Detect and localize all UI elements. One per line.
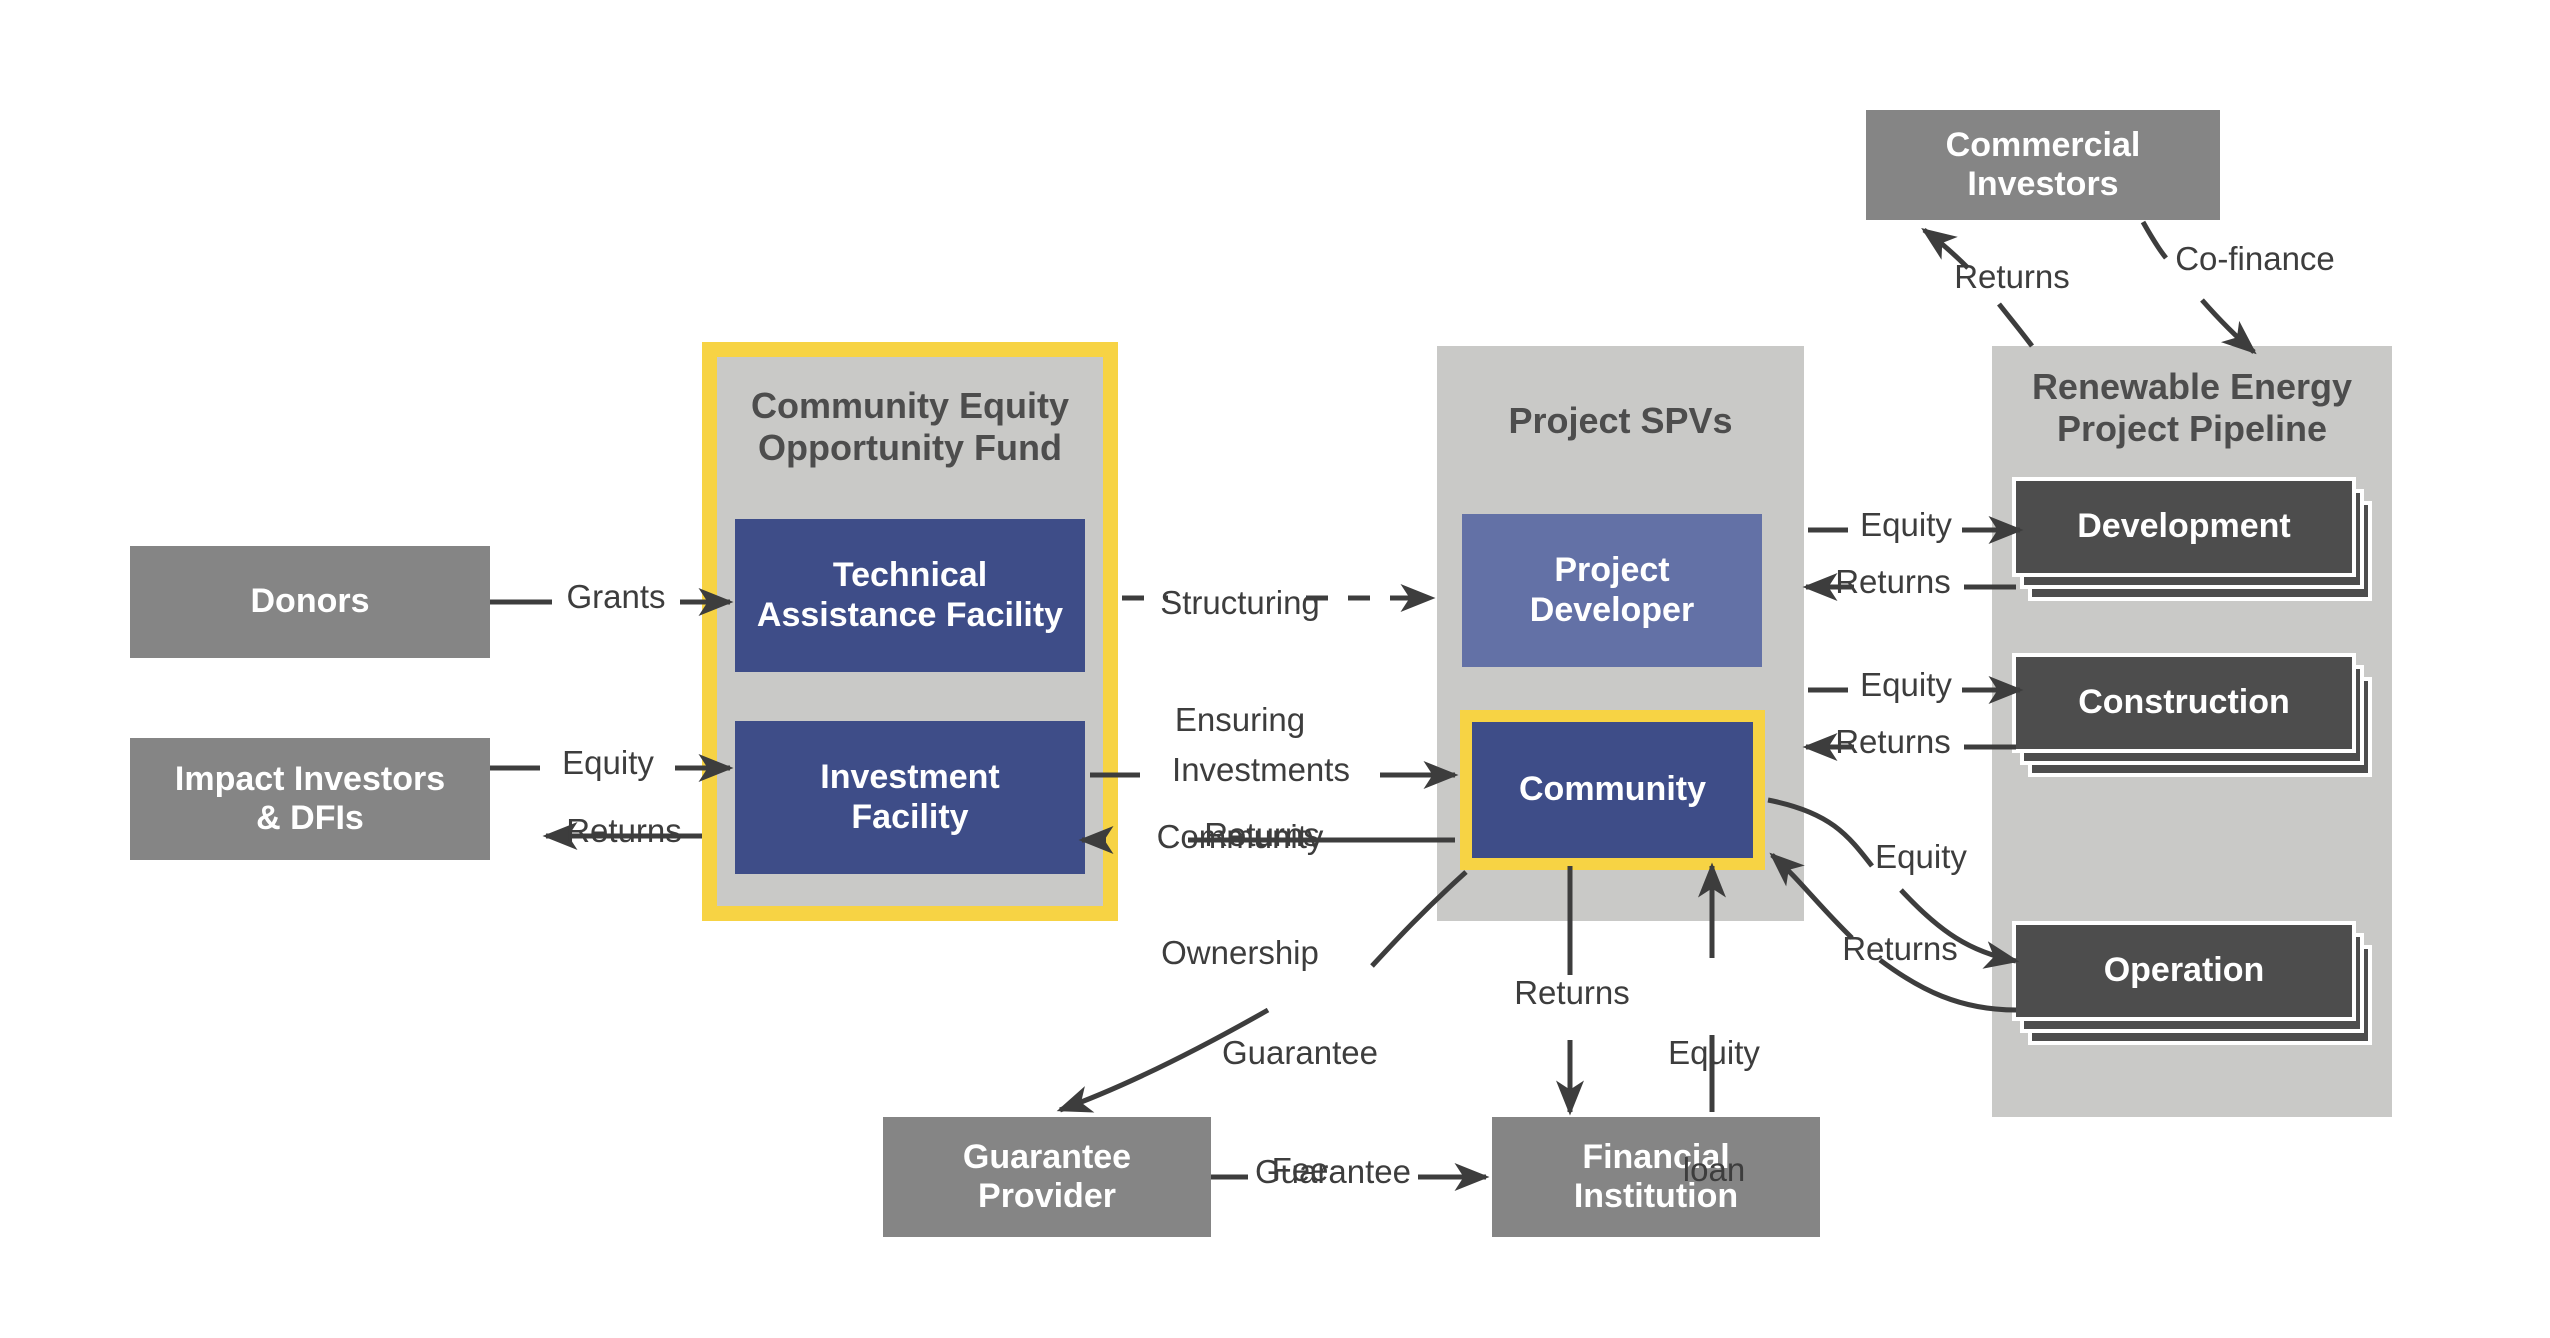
edge-label-guarantee-fee: Guarantee Fee: [1190, 956, 1410, 1268]
edge-co-finance-2: [2202, 300, 2254, 352]
edge-label-returns-impact: Returns: [546, 812, 702, 851]
edge-label-investments: Investments: [1140, 751, 1382, 790]
edge-label-equity-operation: Equity: [1856, 838, 1986, 877]
edge-label-returns-operation: Returns: [1822, 930, 1978, 969]
equity-loan-line1: Equity: [1636, 1034, 1792, 1073]
edge-guarantee-fee: [1372, 872, 1466, 966]
edge-label-returns-invest: Returns: [1184, 816, 1340, 855]
edge-returns-commercial: [1999, 304, 2032, 346]
edge-returns-operation-2: [1772, 855, 1852, 938]
diagram-canvas: Community Equity Opportunity Fund Projec…: [0, 0, 2550, 1338]
edge-label-equity-development: Equity: [1846, 506, 1966, 545]
guarantee-fee-line1: Guarantee: [1190, 1034, 1410, 1073]
edge-label-guarantee: Guarantee: [1238, 1153, 1428, 1192]
edge-label-equity-loan: Equity loan: [1636, 956, 1792, 1268]
edge-label-returns-commercial: Returns: [1932, 258, 2092, 297]
edge-label-grants: Grants: [552, 578, 680, 617]
edge-label-returns-construction: Returns: [1820, 723, 1966, 762]
edge-label-equity-impact: Equity: [540, 744, 676, 783]
edge-label-co-finance: Co-finance: [2140, 240, 2370, 279]
edge-label-equity-construction: Equity: [1846, 666, 1966, 705]
equity-loan-line2: loan: [1636, 1151, 1792, 1190]
edge-label-returns-development: Returns: [1820, 563, 1966, 602]
structuring-line2: Ensuring: [1140, 701, 1340, 740]
edge-label-returns-financial: Returns: [1494, 974, 1650, 1013]
structuring-line1: Structuring: [1140, 584, 1340, 623]
